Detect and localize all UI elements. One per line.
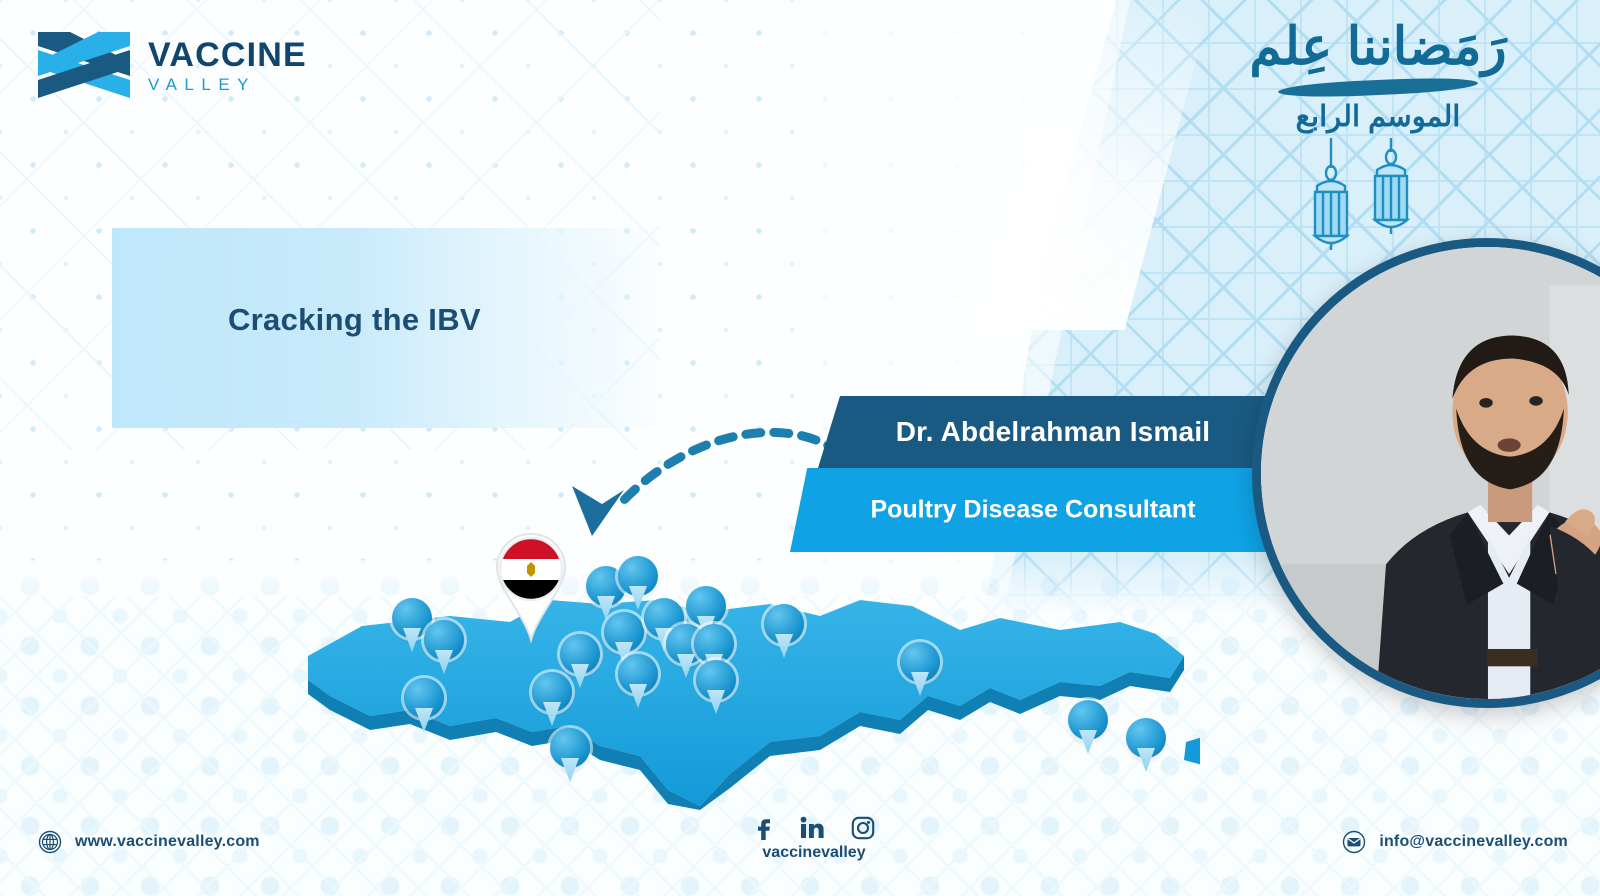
map-pin-mauritania[interactable] bbox=[404, 678, 444, 732]
footer-email[interactable]: info@vaccinevalley.com bbox=[1342, 830, 1568, 854]
ramadan-brush-stroke bbox=[1278, 75, 1478, 99]
footer-social: vaccinevalley bbox=[724, 816, 904, 862]
map-pin-pakistan[interactable] bbox=[764, 604, 804, 658]
poster-canvas: VACCINE VALLEY رَمَضاننا عِلم الموسم الر… bbox=[0, 0, 1600, 896]
globe-icon bbox=[38, 830, 62, 854]
map-pin-yemen[interactable] bbox=[618, 654, 658, 708]
map-pin-somalia[interactable] bbox=[1068, 700, 1108, 754]
speaker-name: Dr. Abdelrahman Ismail bbox=[818, 416, 1288, 448]
instagram-icon[interactable] bbox=[851, 816, 875, 840]
linkedin-icon[interactable] bbox=[799, 816, 825, 840]
map-pin-algeria[interactable] bbox=[424, 620, 464, 674]
ramadan-campaign-block: رَمَضاننا عِلم الموسم الرابع bbox=[1228, 18, 1528, 134]
speaker-photo bbox=[1252, 238, 1600, 708]
map-pin-djibouti[interactable] bbox=[1126, 718, 1166, 772]
logo-wordmark-primary: VACCINE bbox=[148, 38, 307, 72]
brand-logo[interactable]: VACCINE VALLEY bbox=[36, 28, 307, 102]
ramadan-headline-arabic: رَمَضاننا عِلم bbox=[1228, 18, 1528, 78]
egypt-flag-pin-icon bbox=[490, 528, 572, 646]
map-pin-oman[interactable] bbox=[696, 660, 736, 714]
ramadan-season-arabic: الموسم الرابع bbox=[1228, 99, 1528, 134]
facebook-icon[interactable] bbox=[753, 816, 773, 840]
social-handle: vaccinevalley bbox=[724, 844, 904, 862]
map-pin-afghanistan[interactable] bbox=[900, 642, 940, 696]
speaker-role-banner: Poultry Disease Consultant bbox=[790, 468, 1296, 552]
footer-website[interactable]: www.vaccinevalley.com bbox=[38, 830, 260, 854]
logo-wordmark-secondary: VALLEY bbox=[148, 76, 307, 93]
speaker-name-banner: Dr. Abdelrahman Ismail bbox=[818, 396, 1296, 468]
email-address: info@vaccinevalley.com bbox=[1379, 833, 1568, 851]
map-pin-chad[interactable] bbox=[550, 728, 590, 782]
page-title: Cracking the IBV bbox=[228, 302, 698, 338]
map-pin-egypt-highlighted[interactable] bbox=[490, 528, 572, 646]
speaker-portrait-illustration bbox=[1261, 247, 1600, 699]
envelope-icon bbox=[1342, 830, 1366, 854]
website-url: www.vaccinevalley.com bbox=[75, 833, 260, 851]
dna-helix-icon bbox=[36, 28, 132, 102]
speaker-role: Poultry Disease Consultant bbox=[790, 496, 1276, 525]
